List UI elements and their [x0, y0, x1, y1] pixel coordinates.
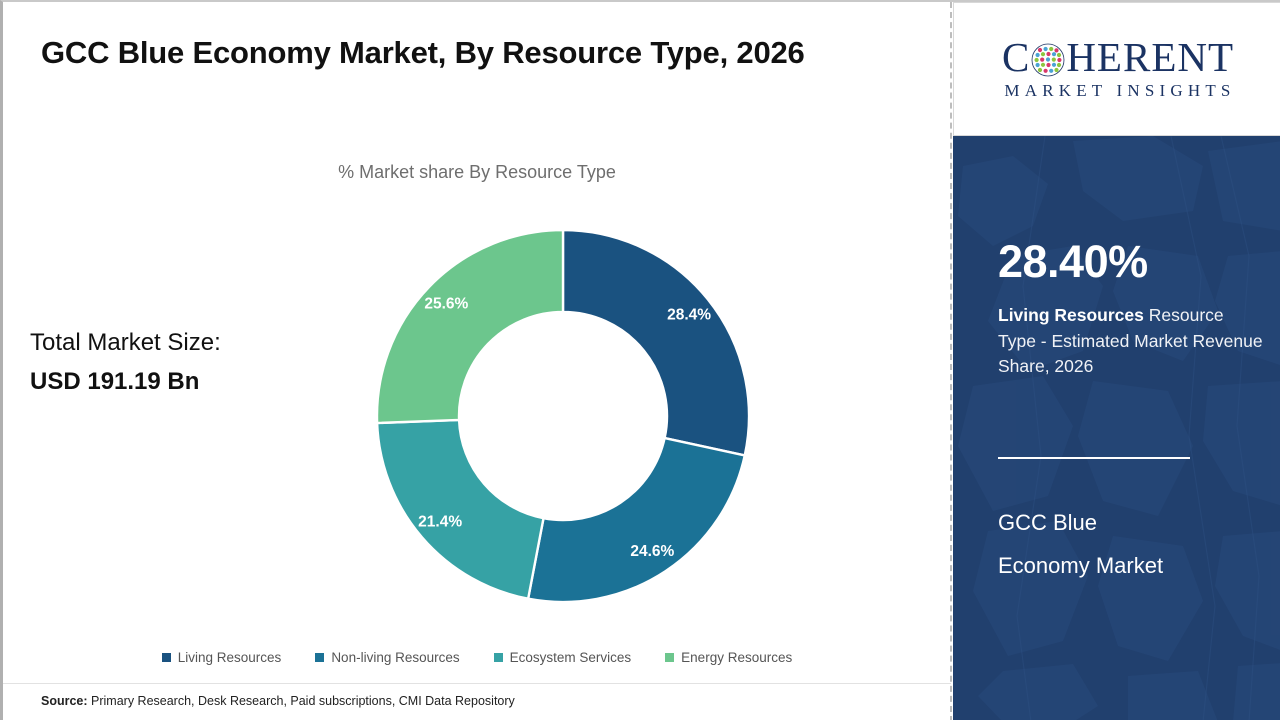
- donut-slice[interactable]: [377, 420, 543, 599]
- donut-slice-group: [377, 230, 749, 602]
- chart-subtitle: % Market share By Resource Type: [3, 162, 951, 183]
- infographic-page: GCC Blue Economy Market, By Resource Typ…: [0, 0, 1280, 720]
- chart-legend: Living ResourcesNon-living ResourcesEcos…: [3, 650, 951, 665]
- info-panel: C: [953, 2, 1280, 720]
- source-label: Source:: [41, 694, 88, 708]
- logo-subtitle: MARKET INSIGHTS: [1000, 81, 1235, 101]
- donut-slice[interactable]: [528, 438, 745, 602]
- total-market-label: Total Market Size:: [30, 324, 330, 363]
- logo-letters-herent: HERENT: [1066, 37, 1234, 78]
- panel-separator: [950, 2, 952, 720]
- donut-chart: 28.4%24.6%21.4%25.6%: [375, 226, 751, 606]
- donut-slice-label: 21.4%: [418, 514, 462, 531]
- legend-swatch-icon: [315, 653, 324, 662]
- total-market-size: Total Market Size: USD 191.19 Bn: [30, 324, 330, 402]
- legend-swatch-icon: [665, 653, 674, 662]
- logo-letter-c: C: [1002, 37, 1030, 78]
- market-name: GCC Blue Economy Market: [998, 502, 1270, 588]
- legend-item[interactable]: Living Resources: [162, 650, 282, 665]
- legend-swatch-icon: [162, 653, 171, 662]
- donut-slice-label: 25.6%: [424, 296, 468, 313]
- source-divider: [3, 683, 951, 684]
- stat-box: 28.40% Living Resources Resource Type - …: [953, 136, 1280, 720]
- legend-label: Energy Resources: [681, 650, 792, 665]
- total-market-value: USD 191.19 Bn: [30, 363, 330, 402]
- legend-label: Non-living Resources: [331, 650, 459, 665]
- stat-highlight: Living Resources: [998, 305, 1144, 325]
- donut-slice-label: 28.4%: [667, 306, 711, 323]
- company-logo: C: [953, 2, 1280, 136]
- legend-item[interactable]: Non-living Resources: [315, 650, 459, 665]
- logo-wordmark: C: [1002, 37, 1234, 78]
- info-divider: [998, 457, 1190, 459]
- legend-item[interactable]: Ecosystem Services: [494, 650, 632, 665]
- page-title: GCC Blue Economy Market, By Resource Typ…: [41, 32, 881, 75]
- stat-description: Living Resources Resource Type - Estimat…: [998, 303, 1266, 380]
- donut-slice[interactable]: [563, 230, 749, 455]
- market-name-line2: Economy Market: [998, 545, 1270, 588]
- source-text: Primary Research, Desk Research, Paid su…: [88, 694, 515, 708]
- donut-slice[interactable]: [377, 230, 563, 423]
- stat-content: 28.40% Living Resources Resource Type - …: [953, 136, 1280, 720]
- chart-panel: GCC Blue Economy Market, By Resource Typ…: [3, 2, 951, 720]
- legend-label: Ecosystem Services: [510, 650, 632, 665]
- donut-slice-label: 24.6%: [630, 543, 674, 560]
- legend-swatch-icon: [494, 653, 503, 662]
- stat-value: 28.40%: [998, 239, 1148, 284]
- donut-chart-svg: 28.4%24.6%21.4%25.6%: [375, 226, 751, 606]
- source-line: Source: Primary Research, Desk Research,…: [41, 694, 515, 708]
- legend-label: Living Resources: [178, 650, 282, 665]
- dotted-sphere-icon: [1031, 43, 1065, 77]
- legend-item[interactable]: Energy Resources: [665, 650, 792, 665]
- market-name-line1: GCC Blue: [998, 502, 1270, 545]
